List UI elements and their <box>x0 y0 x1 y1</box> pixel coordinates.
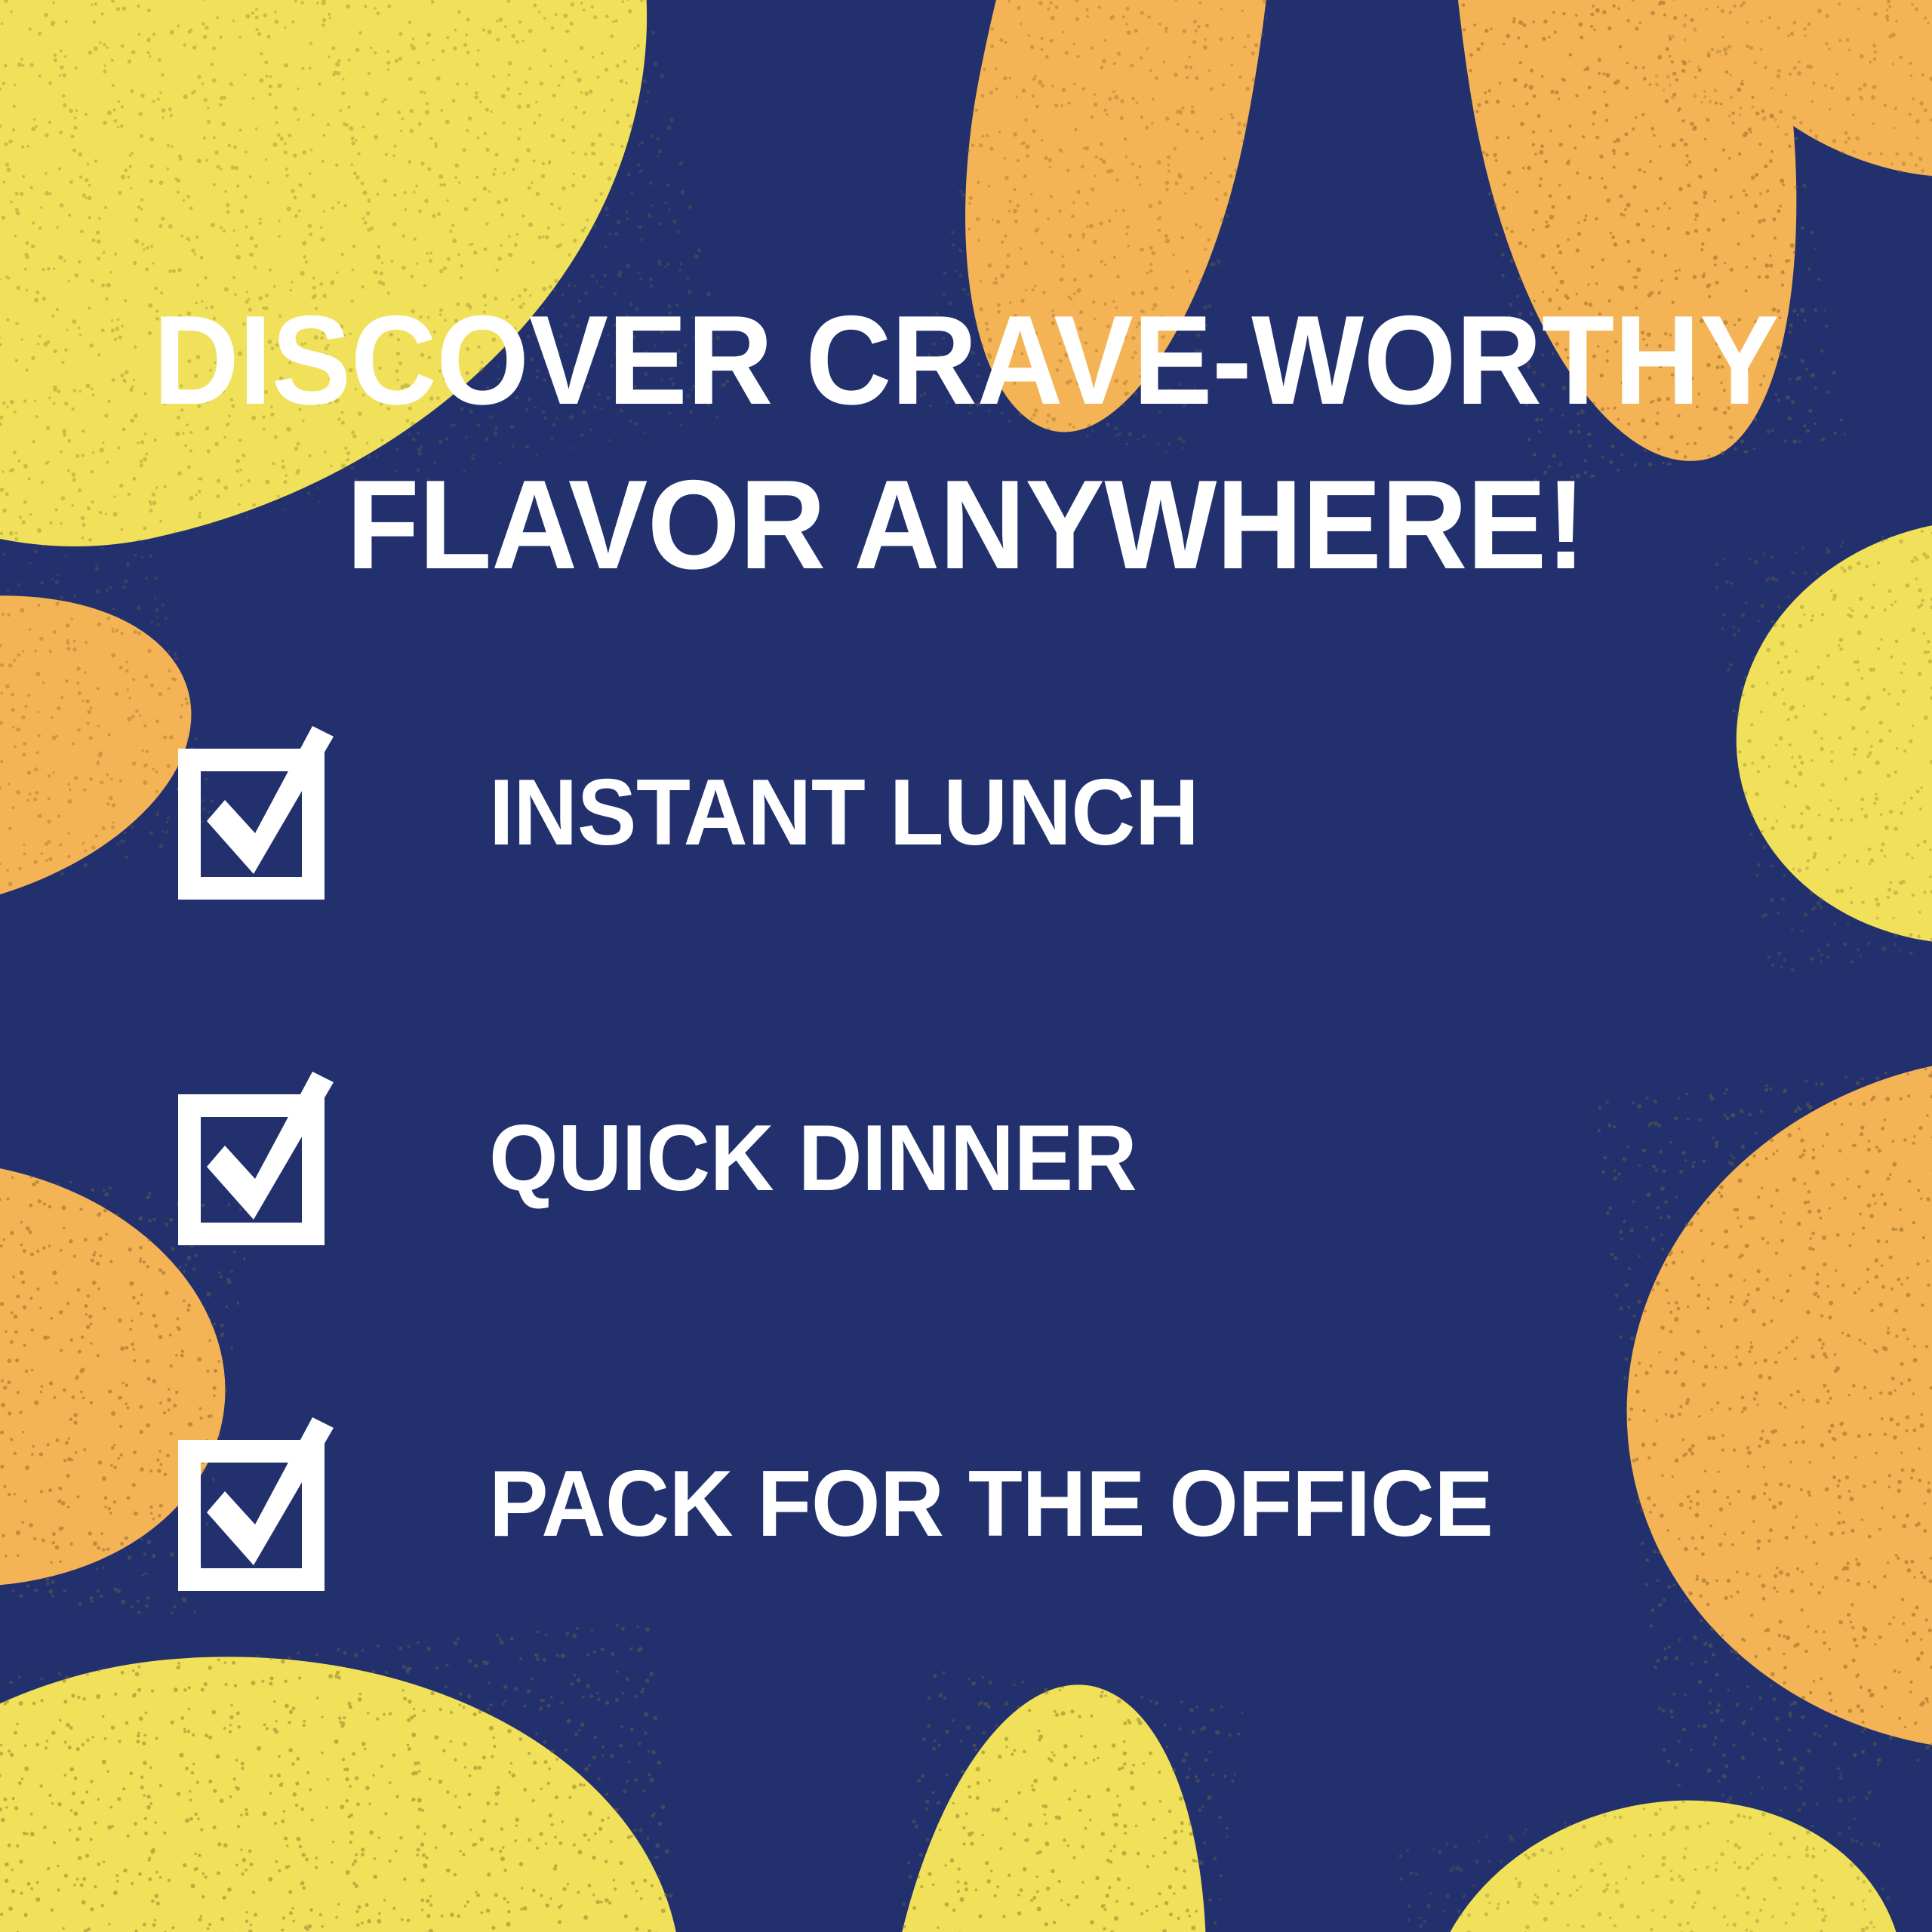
list-item-label: QUICK DINNER <box>489 1112 1137 1205</box>
promo-graphic-canvas: DISCOVER CRAVE-WORTHY FLAVOR ANYWHERE! I… <box>0 0 1932 1932</box>
yellow-blob-bottom-mid-shape <box>854 1666 1244 1932</box>
checklist: INSTANT LUNCH QUICK DINNER PACK FOR <box>172 726 1817 1591</box>
list-item: PACK FOR THE OFFICE <box>172 1417 1817 1591</box>
yellow-blob-bottom-right-shape <box>1392 1764 1928 1932</box>
checkbox-checked-icon <box>172 726 352 900</box>
list-item: INSTANT LUNCH <box>172 726 1817 900</box>
yellow-blob-bottom-left-shape <box>0 1617 705 1932</box>
list-item-label: PACK FOR THE OFFICE <box>489 1457 1493 1551</box>
list-item: QUICK DINNER <box>172 1072 1817 1245</box>
list-item-label: INSTANT LUNCH <box>489 766 1198 860</box>
headline: DISCOVER CRAVE-WORTHY FLAVOR ANYWHERE! <box>58 278 1874 608</box>
headline-line-1: DISCOVER CRAVE-WORTHY <box>58 278 1874 442</box>
checkbox-checked-icon <box>172 1417 352 1591</box>
checkbox-checked-icon <box>172 1072 352 1245</box>
headline-line-2: FLAVOR ANYWHERE! <box>58 442 1874 607</box>
